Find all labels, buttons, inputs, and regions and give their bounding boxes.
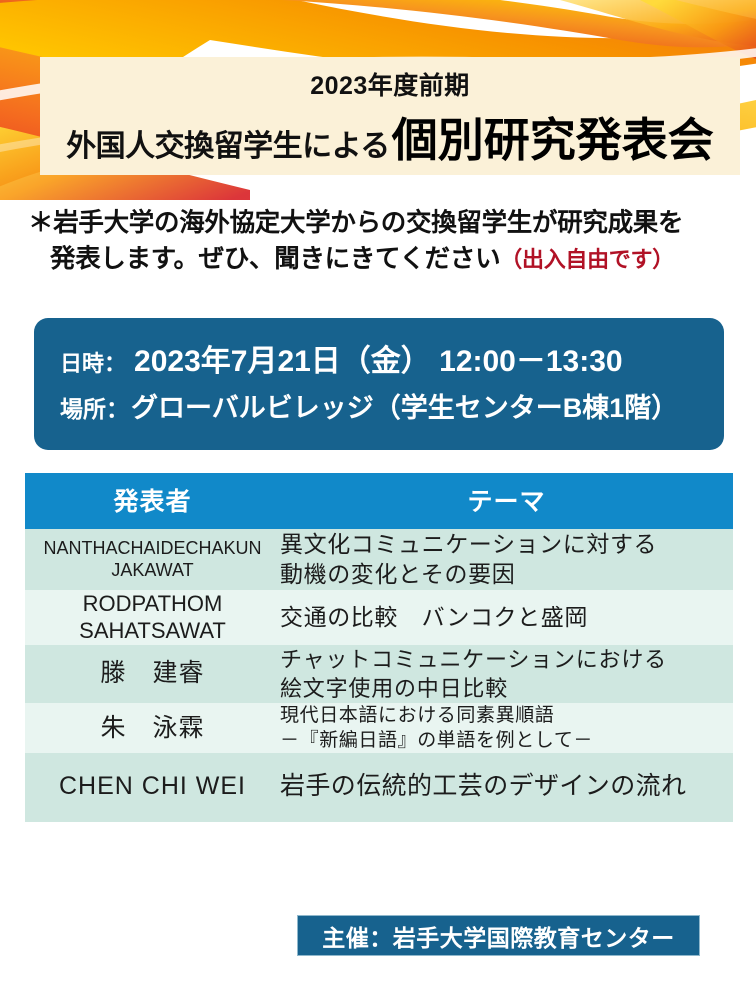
table-row: RODPATHOM SAHATSAWAT 交通の比較 バンコクと盛岡	[25, 590, 733, 645]
event-place-row: 場所： グローバルビレッジ（学生センターB棟1階）	[60, 386, 700, 425]
presenter-cell: 朱 泳霖	[25, 703, 280, 753]
theme-line: 絵文字使用の中日比較	[280, 674, 733, 703]
presenter-line: NANTHACHAIDECHAKUN	[25, 537, 280, 560]
presenter-line: RODPATHOM	[25, 590, 280, 618]
theme-line: 岩手の伝統的工芸のデザインの流れ	[280, 770, 733, 803]
theme-cell: 異文化コミュニケーションに対する 動機の変化とその要因	[280, 529, 733, 590]
presenter-cell: 滕 建睿	[25, 645, 280, 703]
theme-line: 現代日本語における同素異順語	[280, 703, 733, 728]
table-row: 朱 泳霖 現代日本語における同素異順語 －『新編日語』の単語を例として－	[25, 703, 733, 753]
presenter-cell: CHEN CHI WEI	[25, 753, 280, 822]
title-emphasis-text: 個別研究発表会	[392, 104, 714, 170]
theme-line: 動機の変化とその要因	[280, 559, 733, 589]
event-datetime-row: 日時： 2023年7月21日（金） 12:00－13:30	[60, 336, 700, 380]
presenter-cell: NANTHACHAIDECHAKUN JAKAWAT	[25, 529, 280, 590]
title-main: 外国人交換留学生による 個別研究発表会	[40, 104, 740, 170]
presenter-line: SAHATSAWAT	[25, 617, 280, 645]
table-row: 滕 建睿 チャットコミュニケーションにおける 絵文字使用の中日比較	[25, 645, 733, 703]
theme-cell: 現代日本語における同素異順語 －『新編日語』の単語を例として－	[280, 703, 733, 753]
free-entry-note: （出入自由です）	[500, 247, 674, 272]
presenter-line: 滕 建睿	[25, 658, 280, 690]
theme-cell: 岩手の伝統的工芸のデザインの流れ	[280, 753, 733, 822]
table-header-row: 発表者 テーマ	[25, 473, 733, 529]
presentations-table: 発表者 テーマ NANTHACHAIDECHAKUN JAKAWAT 異文化コミ…	[25, 473, 733, 822]
datetime-value: 2023年7月21日（金） 12:00－13:30	[134, 336, 623, 380]
datetime-label: 日時：	[60, 346, 126, 378]
theme-line: 交通の比較 バンコクと盛岡	[280, 602, 733, 632]
theme-cell: 交通の比較 バンコクと盛岡	[280, 590, 733, 645]
title-year: 2023年度前期	[40, 71, 740, 102]
presenter-line: JAKAWAT	[25, 559, 280, 582]
table-row: CHEN CHI WEI 岩手の伝統的工芸のデザインの流れ	[25, 753, 733, 822]
title-lead-text: 外国人交換留学生による	[66, 121, 390, 165]
place-value: グローバルビレッジ（学生センターB棟1階）	[131, 386, 678, 425]
theme-line: チャットコミュニケーションにおける	[280, 645, 733, 674]
description-block: ＊岩手大学の海外協定大学からの交換留学生が研究成果を 発表します。ぜひ、聞きにき…	[28, 205, 734, 277]
theme-line: 異文化コミュニケーションに対する	[280, 529, 733, 559]
table-row: NANTHACHAIDECHAKUN JAKAWAT 異文化コミュニケーションに…	[25, 529, 733, 590]
title-banner: 2023年度前期 外国人交換留学生による 個別研究発表会	[40, 57, 740, 175]
description-line-1: ＊岩手大学の海外協定大学からの交換留学生が研究成果を	[28, 205, 734, 241]
presenter-line: CHEN CHI WEI	[25, 771, 280, 803]
presenter-line: 朱 泳霖	[25, 713, 280, 745]
organizer-text: 主催：岩手大学国際教育センター	[322, 919, 675, 953]
theme-cell: チャットコミュニケーションにおける 絵文字使用の中日比較	[280, 645, 733, 703]
organizer-banner: 主催：岩手大学国際教育センター	[297, 915, 700, 956]
place-label: 場所：	[60, 390, 129, 424]
column-header-presenter: 発表者	[25, 473, 280, 529]
event-info-box: 日時： 2023年7月21日（金） 12:00－13:30 場所： グローバルビ…	[34, 318, 724, 450]
presenter-cell: RODPATHOM SAHATSAWAT	[25, 590, 280, 645]
column-header-theme: テーマ	[280, 473, 733, 529]
description-line-2: 発表します。ぜひ、聞きにきてください（出入自由です）	[28, 241, 734, 277]
theme-line: －『新編日語』の単語を例として－	[280, 728, 733, 753]
description-line-2-text: 発表します。ぜひ、聞きにきてください	[50, 245, 500, 273]
